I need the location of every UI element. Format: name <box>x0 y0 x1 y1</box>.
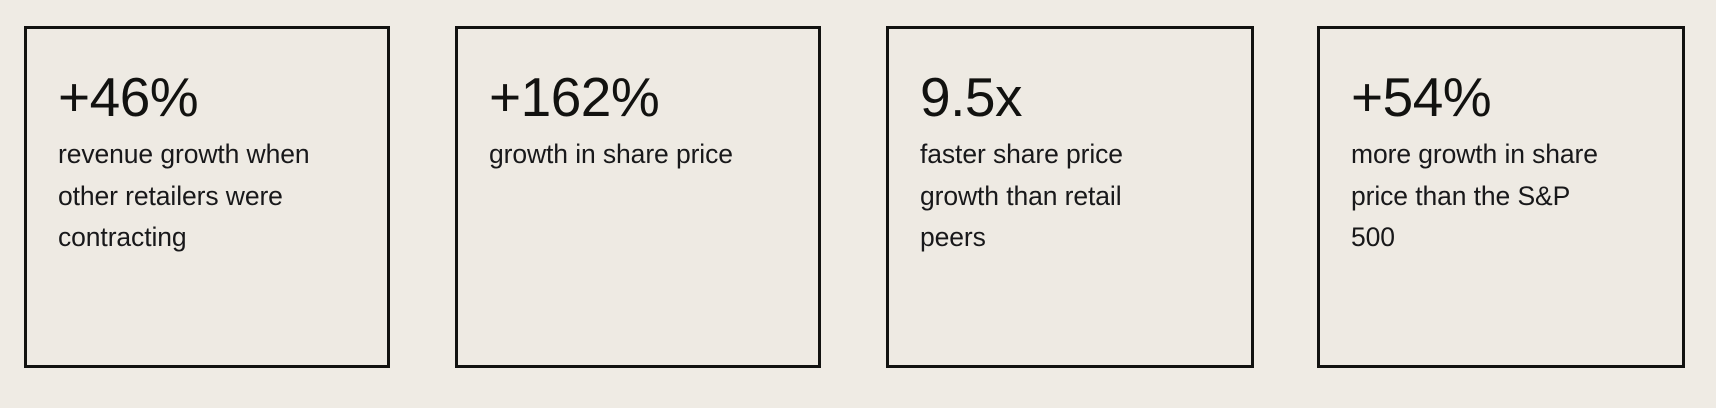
stat-caption: revenue growth when other retailers were… <box>58 134 310 259</box>
stat-cards-board: +46% revenue growth when other retailers… <box>0 0 1716 408</box>
stat-card-content: +46% revenue growth when other retailers… <box>58 68 379 259</box>
stat-caption: faster share price growth than retail pe… <box>920 134 1178 259</box>
stat-value: +162% <box>489 68 810 126</box>
stat-card-content: +54% more growth in share price than the… <box>1351 68 1674 259</box>
stat-value: +54% <box>1351 68 1674 126</box>
stat-card-content: +162% growth in share price <box>489 68 810 176</box>
stat-caption: more growth in share price than the S&P … <box>1351 134 1609 259</box>
stat-card-peer-comparison: 9.5x faster share price growth than reta… <box>886 26 1254 368</box>
stat-card-sp500-comparison: +54% more growth in share price than the… <box>1317 26 1685 368</box>
stat-card-revenue-growth: +46% revenue growth when other retailers… <box>24 26 390 368</box>
stat-value: 9.5x <box>920 68 1243 126</box>
stat-caption: growth in share price <box>489 134 741 176</box>
stat-card-share-price-growth: +162% growth in share price <box>455 26 821 368</box>
stat-card-content: 9.5x faster share price growth than reta… <box>920 68 1243 259</box>
stat-value: +46% <box>58 68 379 126</box>
